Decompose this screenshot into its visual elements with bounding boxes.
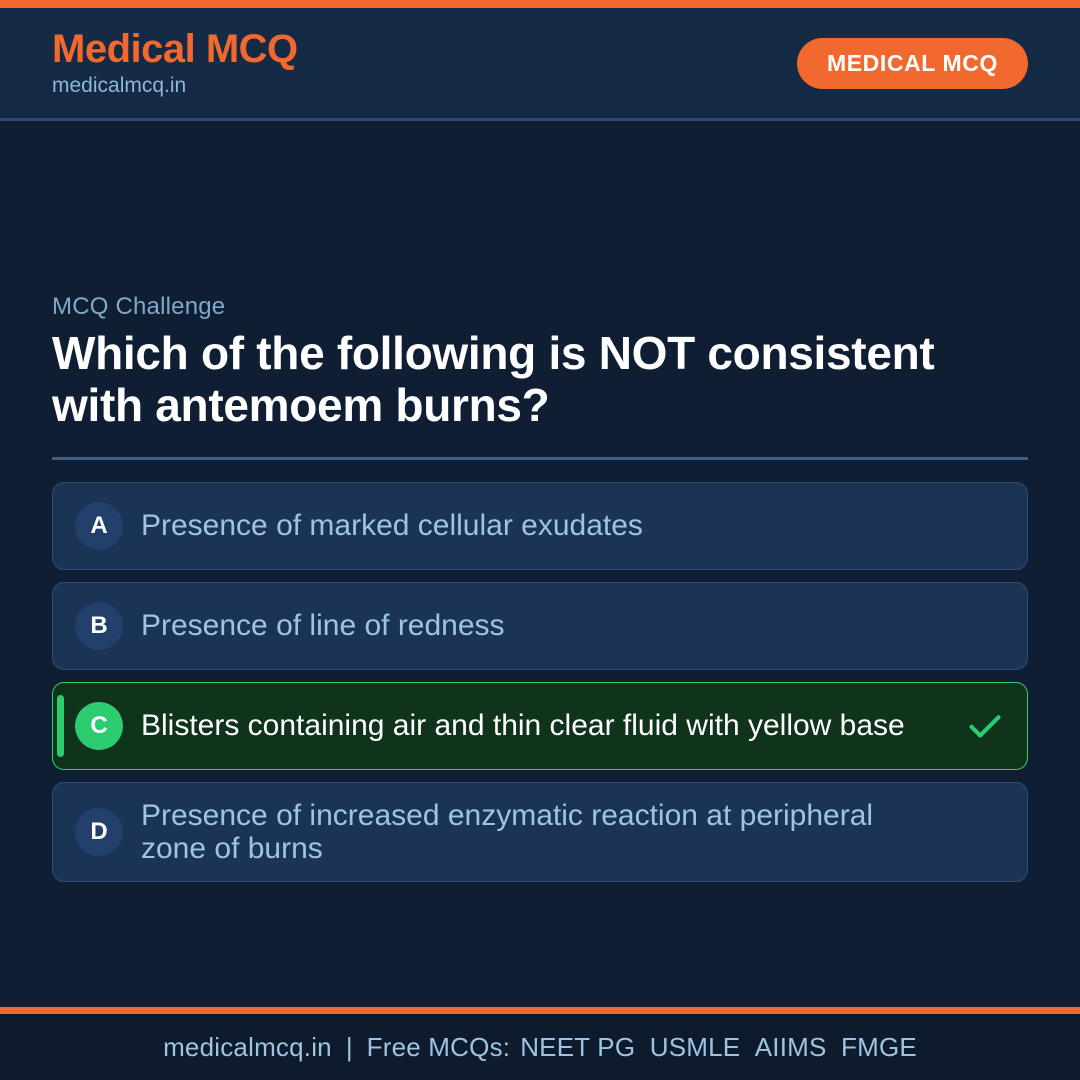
footer-accent-bar [0,1007,1080,1014]
footer-bar: medicalmcq.in | Free MCQs: NEET PG USMLE… [0,1014,1080,1080]
check-icon [965,706,1005,746]
option-letter-badge: A [75,502,123,550]
brand-title: Medical MCQ [52,27,298,71]
question-zone: MCQ Challenge Which of the following is … [52,293,1028,432]
question-text: Which of the following is NOT consistent… [52,327,1028,432]
option-text: Presence of increased enzymatic reaction… [141,799,947,865]
correct-accent-bar [57,695,64,757]
option-b[interactable]: B Presence of line of redness [52,582,1028,670]
options-list: A Presence of marked cellular exudates B… [52,482,1028,882]
footer-exam-usmle: USMLE [640,1032,741,1062]
header-badge: MEDICAL MCQ [797,38,1028,89]
option-letter-badge: B [75,602,123,650]
header-bar: Medical MCQ medicalmcq.in MEDICAL MCQ [0,8,1080,121]
footer-separator: | [332,1032,367,1063]
footer-exam-fmge: FMGE [831,1032,917,1062]
option-text: Blisters containing air and thin clear f… [141,709,947,742]
option-letter-badge: D [75,808,123,856]
question-divider [52,457,1028,460]
question-eyebrow: MCQ Challenge [52,293,1028,321]
brand-block: Medical MCQ medicalmcq.in [52,27,298,98]
brand-domain: medicalmcq.in [52,73,298,98]
footer-prefix: Free MCQs: [367,1032,511,1063]
option-c[interactable]: C Blisters containing air and thin clear… [52,682,1028,770]
mcq-card: Medical MCQ medicalmcq.in MEDICAL MCQ MC… [0,0,1080,1080]
footer-site: medicalmcq.in [163,1032,332,1063]
top-accent-bar [0,0,1080,8]
main-content: MCQ Challenge Which of the following is … [0,121,1080,1007]
option-letter-badge: C [75,702,123,750]
option-a[interactable]: A Presence of marked cellular exudates [52,482,1028,570]
footer-exam-list: NEET PG USMLE AIIMS FMGE [510,1032,917,1063]
option-d[interactable]: D Presence of increased enzymatic reacti… [52,782,1028,882]
footer-exam-aiims: AIIMS [745,1032,827,1062]
option-text: Presence of marked cellular exudates [141,509,947,542]
footer-exam-neet-pg: NEET PG [510,1032,635,1062]
option-text: Presence of line of redness [141,609,947,642]
